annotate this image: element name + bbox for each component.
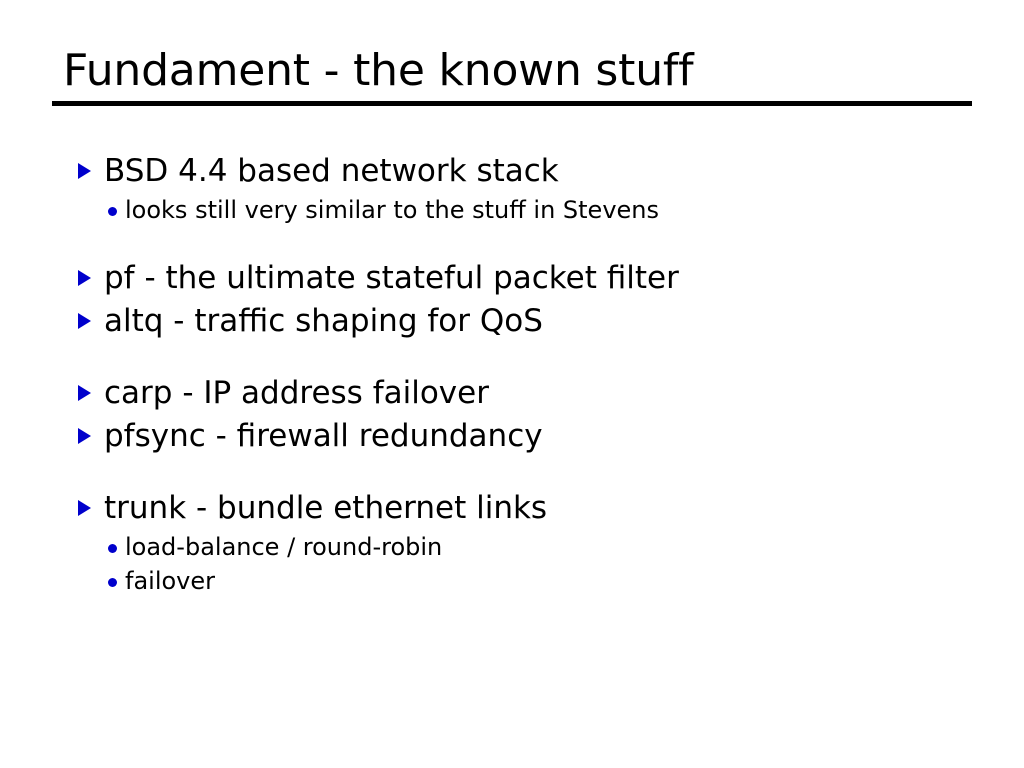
bullet-group: carp - IP address failover pfsync - fire… [78, 372, 978, 457]
slide-title-block: Fundament - the known stuff [52, 46, 972, 106]
dot-marker-icon [108, 193, 125, 216]
title-underline-rule [52, 101, 972, 106]
list-item-label: load-balance / round-robin [125, 530, 442, 564]
list-item: trunk - bundle ethernet links [78, 487, 978, 529]
list-item-label: trunk - bundle ethernet links [104, 487, 547, 529]
list-item: pfsync - firewall redundancy [78, 415, 978, 457]
list-item: BSD 4.4 based network stack [78, 150, 978, 192]
list-item: load-balance / round-robin [108, 530, 978, 564]
list-item: looks still very similar to the stuff in… [108, 193, 978, 227]
triangle-right-marker-icon [78, 487, 104, 516]
list-item-label: altq - traffic shaping for QoS [104, 300, 543, 342]
page-title: Fundament - the known stuff [52, 46, 972, 96]
bullet-group: pf - the ultimate stateful packet filter… [78, 257, 978, 342]
bullet-group: BSD 4.4 based network stack looks still … [78, 150, 978, 227]
list-item-label: looks still very similar to the stuff in… [125, 193, 659, 227]
presentation-slide: Fundament - the known stuff BSD 4.4 base… [0, 0, 1024, 768]
list-item: failover [108, 564, 978, 598]
triangle-right-marker-icon [78, 372, 104, 401]
bullet-group: trunk - bundle ethernet links load-balan… [78, 487, 978, 598]
list-item-label: failover [125, 564, 215, 598]
slide-body: BSD 4.4 based network stack looks still … [78, 150, 978, 598]
dot-marker-icon [108, 564, 125, 587]
triangle-right-marker-icon [78, 257, 104, 286]
list-item-label: pfsync - firewall redundancy [104, 415, 543, 457]
triangle-right-marker-icon [78, 150, 104, 179]
list-item: altq - traffic shaping for QoS [78, 300, 978, 342]
list-item-label: pf - the ultimate stateful packet filter [104, 257, 679, 299]
triangle-right-marker-icon [78, 415, 104, 444]
dot-marker-icon [108, 530, 125, 553]
list-item: pf - the ultimate stateful packet filter [78, 257, 978, 299]
list-item-label: BSD 4.4 based network stack [104, 150, 559, 192]
list-item-label: carp - IP address failover [104, 372, 489, 414]
list-item: carp - IP address failover [78, 372, 978, 414]
triangle-right-marker-icon [78, 300, 104, 329]
